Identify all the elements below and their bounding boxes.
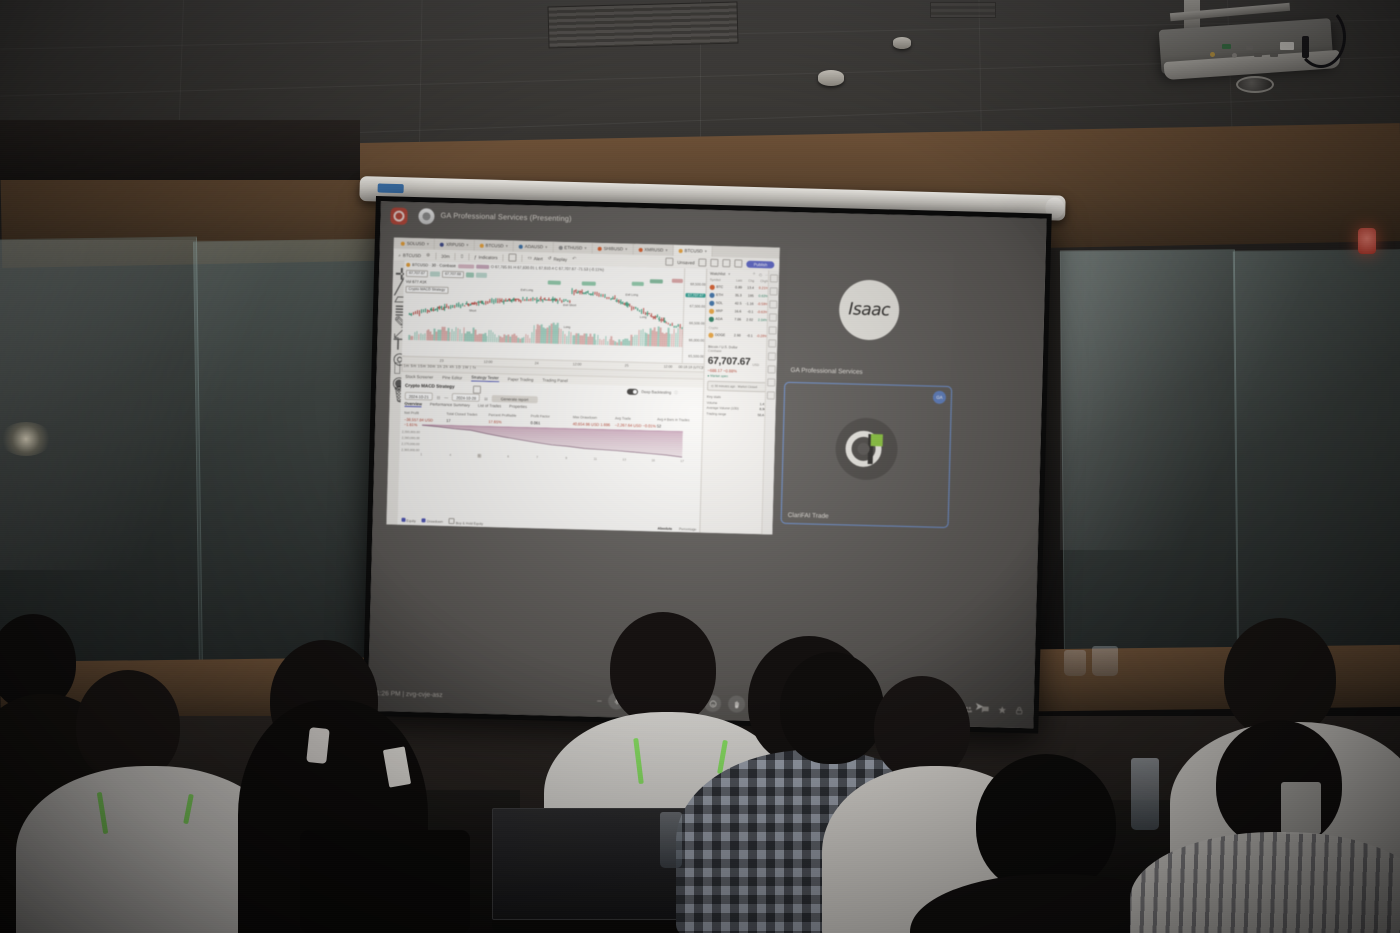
symbol-dot-icon xyxy=(401,241,405,245)
symbol-dot-icon xyxy=(519,244,523,248)
trendline-icon[interactable]: ╱ xyxy=(395,277,402,284)
watchlist-row[interactable]: ADA 7.06 2.02 2.04% xyxy=(709,317,768,323)
candle-body xyxy=(454,306,456,307)
metric-label: Net Profit xyxy=(404,411,446,416)
interval-quick-row[interactable]: 1m 5m 15m 30m 1h 2h 4h 1D 1W | fx xyxy=(404,364,477,370)
chevron-down-icon[interactable]: ▾ xyxy=(545,244,547,250)
deep-backtesting-toggle[interactable]: Deep Backtesting ⓘ xyxy=(627,389,678,396)
fib-icon[interactable]: ≣ xyxy=(394,301,401,308)
candle-body xyxy=(419,313,421,314)
subtab-overview[interactable]: Overview xyxy=(404,401,421,407)
clarifai-logo-icon xyxy=(843,426,890,473)
candles-icon: ▯ xyxy=(461,253,464,259)
water-bottle xyxy=(660,812,682,868)
col-chgpct: Chg% xyxy=(754,279,769,283)
fullscreen-icon[interactable] xyxy=(723,259,731,267)
row-last: 7.06 xyxy=(729,318,741,322)
interval-button[interactable]: 30m xyxy=(441,253,450,258)
quote-market-status: ● Market open xyxy=(707,374,768,380)
candle-body xyxy=(507,300,509,301)
publish-button[interactable]: Publish xyxy=(747,260,775,268)
magnet-icon[interactable]: ◎ xyxy=(393,348,400,355)
calendar-icon[interactable] xyxy=(769,326,777,334)
candle-body xyxy=(538,300,540,301)
ceiling-projector xyxy=(1150,0,1380,95)
signal-badge xyxy=(672,279,683,283)
equity-y-tick: 2,380,000.00 xyxy=(402,436,420,440)
chevron-down-icon[interactable]: ▾ xyxy=(665,247,667,253)
col-symbol: Symbol xyxy=(710,278,730,283)
toggle-switch[interactable] xyxy=(627,389,638,395)
symbol-search-button[interactable]: ⌕ BTCUSD xyxy=(398,252,421,258)
signal-badge xyxy=(632,282,644,286)
price-tick: 66,000.00 xyxy=(689,338,705,342)
settings-icon[interactable] xyxy=(711,259,719,267)
metric-value: 17.65% xyxy=(488,419,530,425)
text-icon[interactable]: T xyxy=(393,337,400,344)
symbol-tab-label: ETHUSD xyxy=(564,245,582,250)
symbol-tab-label: XMRUSD xyxy=(644,247,663,252)
drinking-glass xyxy=(1064,650,1086,676)
avatar: Isaac xyxy=(838,279,900,341)
trade-marker-label: Exit Long xyxy=(625,293,638,297)
equity-x-tick: 7 xyxy=(536,455,538,459)
chevron-down-icon[interactable]: ▾ xyxy=(705,248,707,254)
chair-back xyxy=(300,830,470,933)
metric-delta: −0.01% xyxy=(643,423,656,428)
subtab-properties[interactable]: Properties xyxy=(509,404,527,410)
trade-marker-label: Exit Short xyxy=(563,303,576,307)
drawdown-checkbox[interactable] xyxy=(422,518,426,522)
row-last: 35.3 xyxy=(730,294,742,298)
wall-light-reflection xyxy=(0,422,52,456)
metric-label: Max Drawdown xyxy=(573,415,615,420)
symbol-tab-label: ADAUSD xyxy=(525,244,543,249)
trade-marker-label: Short xyxy=(469,308,476,312)
candle-body xyxy=(475,303,477,304)
equity-x-tick: 16 xyxy=(651,458,655,462)
candle-body xyxy=(585,293,587,294)
row-symbol: ETH xyxy=(716,293,723,297)
record-icon[interactable] xyxy=(390,207,407,224)
deep-backtesting-label: Deep Backtesting xyxy=(641,390,671,395)
row-symbol: DOGE xyxy=(715,333,725,337)
row-chgpct: 2.04% xyxy=(753,318,768,322)
generate-report-button[interactable]: Generate report xyxy=(492,395,538,403)
subtab-performance-summary[interactable]: Performance Summary xyxy=(430,401,470,408)
news-icon[interactable] xyxy=(768,339,776,347)
equity-scale-modes: Absolute Percentage xyxy=(657,526,696,531)
lock-icon[interactable]: ⌷ xyxy=(393,360,400,367)
row-chg: 2.02 xyxy=(741,318,753,322)
market-open-dot-icon: ● xyxy=(707,374,709,378)
hotlists-icon[interactable] xyxy=(769,313,777,321)
watchlist-header: Watchlist ▾ ＋ ◴ ⋯ xyxy=(710,271,769,278)
equity-y-axis: 2,390,000.00 2,380,000.00 2,370,000.00 2… xyxy=(403,424,421,451)
key-stat-row: Average Volume (10D) 8,904 xyxy=(707,406,768,412)
metric-value: 0.061 xyxy=(530,420,572,426)
shapes-icon[interactable]: ▱ xyxy=(394,289,401,296)
watchlist-title: Watchlist xyxy=(710,271,725,275)
price-tick: 66,500.00 xyxy=(689,321,705,325)
price-tick: 65,500.00 xyxy=(688,354,704,358)
utc-timestamp: 00:18:18 (UTC) xyxy=(678,365,702,370)
settings-icon[interactable] xyxy=(767,391,775,399)
price-box-1: 67,707.67 xyxy=(406,269,428,277)
ceiling-vent xyxy=(930,2,996,18)
chevron-down-icon[interactable]: ▾ xyxy=(584,245,586,251)
alert-icon: ▭ xyxy=(528,255,532,261)
price-chart[interactable]: BTCUSD · 30 · Coinbase O 67,785.91 H 67,… xyxy=(402,261,707,364)
metric-label: Total Closed Trades xyxy=(446,412,488,417)
equity-legend: Equity Drawdown Buy & Hold Equity xyxy=(401,517,483,526)
chevron-down-icon[interactable]: ▾ xyxy=(466,242,468,248)
water-bottle xyxy=(1131,758,1159,830)
smoke-detector xyxy=(818,70,844,86)
cursor-icon[interactable]: ✛ xyxy=(395,265,402,272)
col-chg: Chg xyxy=(742,279,754,283)
equity-x-tick: 1 xyxy=(420,452,422,456)
replay-button[interactable]: ↺ Replay xyxy=(548,256,568,263)
clock-icon[interactable]: ◴ xyxy=(759,272,762,277)
chat-icon[interactable] xyxy=(767,365,775,373)
symbol-dot-icon xyxy=(709,301,714,306)
metric-label: Percent Profitable xyxy=(489,413,531,418)
key-stats-label: Key stats xyxy=(707,395,768,401)
row-last: 0.89 xyxy=(730,286,742,290)
measure-icon[interactable]: ⤢ xyxy=(393,325,400,332)
avatar xyxy=(835,418,899,482)
candle-body xyxy=(587,291,589,292)
row-symbol: SOL xyxy=(716,301,723,305)
time-tick: 12:00 xyxy=(573,362,582,366)
symbol-dot-icon xyxy=(679,248,683,252)
watchlist-panel: Watchlist ▾ ＋ ◴ ⋯ Symbol Last Chg Chg% xyxy=(699,269,779,535)
audience-member xyxy=(1160,720,1400,933)
equity-chart[interactable]: 2,390,000.00 2,380,000.00 2,370,000.00 2… xyxy=(403,424,699,466)
watchlist-section-label: Crypto xyxy=(709,326,718,330)
roller-brand-tab xyxy=(378,183,404,193)
metric-value: 40,654.96 USD xyxy=(573,421,600,427)
quote-currency: USD xyxy=(752,362,759,368)
row-chgpct: 0.21% xyxy=(754,286,769,290)
toolbar-symbol-label: BTCUSD xyxy=(403,252,421,257)
eye-icon[interactable]: ◉ xyxy=(392,372,399,379)
watchlist-icon[interactable] xyxy=(770,274,778,282)
calendar-icon[interactable]: ▤ xyxy=(437,394,441,399)
participant-badge: GA xyxy=(933,391,946,404)
tab-paper-trading[interactable]: Paper Trading xyxy=(508,377,534,383)
metric-label: Avg # Bars in Trades xyxy=(657,417,699,422)
symbol-dot-icon xyxy=(558,245,562,249)
alerts-icon[interactable] xyxy=(770,287,778,295)
row-last: 16.6 xyxy=(729,310,741,314)
row-chg: 13.4 xyxy=(742,286,754,290)
add-symbol-icon[interactable]: ⊕ xyxy=(426,252,430,258)
watchlist-row[interactable]: SOL 42.5 -1.16 -0.59% xyxy=(709,301,768,307)
row-symbol: ADA xyxy=(715,317,722,321)
candle-body xyxy=(436,309,438,310)
candle-body xyxy=(450,307,452,308)
unsaved-icon xyxy=(665,258,673,266)
layout-icon[interactable] xyxy=(509,253,517,261)
equity-y-tick: 2,360,000.00 xyxy=(401,448,419,452)
equity-checkbox[interactable] xyxy=(401,518,405,522)
participant-tile-presenter[interactable]: Isaac GA Professional Services xyxy=(784,248,953,382)
trash-icon[interactable]: 🗑 xyxy=(392,384,399,391)
symbol-dot-icon xyxy=(709,293,714,298)
avatar-label: Isaac xyxy=(848,299,890,320)
tab-trading-panel[interactable]: Trading Panel xyxy=(542,377,567,383)
equity-x-tick: 5 xyxy=(477,454,481,458)
tradingview-window: SOLUSD ▾ XRPUSD ▾ BTCUSD ▾ ADAUS xyxy=(386,237,779,534)
lanyard-badge xyxy=(1281,782,1321,834)
symbol-dot-icon xyxy=(598,246,602,250)
indicators-icon: ƒ xyxy=(474,254,477,259)
stat-label: Trading range xyxy=(706,412,726,417)
price-box-2: 67,707.68 xyxy=(442,270,464,278)
stat-label: Volume xyxy=(707,400,718,404)
equity-x-tick: 9 xyxy=(565,456,567,460)
tab-stock-screener[interactable]: Stock Screener xyxy=(405,374,433,380)
symbol-dot-icon xyxy=(709,317,714,322)
candle-body xyxy=(629,305,631,306)
buyhold-checkbox[interactable] xyxy=(449,518,455,524)
calendar-icon[interactable]: ▤ xyxy=(484,395,488,400)
price-tick: 68,500.00 xyxy=(690,282,706,286)
time-tick: 12:00 xyxy=(484,360,493,364)
watchlist-row[interactable]: ETH 35.3 195 0.63% xyxy=(709,293,768,299)
time-tick: 24 xyxy=(535,361,539,365)
signal-badge xyxy=(650,279,663,283)
replay-icon: ↺ xyxy=(548,256,552,262)
symbol-tab-label: SHIBUSD xyxy=(604,246,624,252)
row-chgpct: 0.63% xyxy=(754,294,769,298)
row-chg: -0.1 xyxy=(741,310,753,314)
equity-x-tick: 13 xyxy=(622,458,626,462)
col-last: Last xyxy=(730,278,742,282)
smoke-detector xyxy=(893,37,911,49)
row-chgpct: -0.28% xyxy=(753,334,768,338)
row-last: 2.90 xyxy=(729,334,741,338)
presenter-avatar xyxy=(418,208,434,224)
alert-label: Alert xyxy=(534,256,543,261)
row-symbol: XRP xyxy=(716,309,723,313)
candle-body xyxy=(569,301,571,303)
symbol-tab-label: XRPUSD xyxy=(446,242,464,247)
price-tick: 67,500.00 xyxy=(690,304,706,308)
undo-icon[interactable]: ↶ xyxy=(572,256,576,262)
current-price-tag: 67,707.67 xyxy=(686,293,706,298)
key-stat-row: Trading range 50,449 xyxy=(706,412,767,418)
row-chg: -1.16 xyxy=(742,302,754,306)
watchlist-row[interactable]: BTC 0.89 13.4 0.21% xyxy=(710,285,769,291)
unsaved-label: Unsaved xyxy=(677,259,694,264)
candle-body xyxy=(442,308,444,309)
metric-delta: 1.696 xyxy=(600,421,610,426)
participant-tile-clarifai[interactable]: GA ClariFAI Trade xyxy=(781,382,953,528)
time-tick: 25 xyxy=(625,364,629,368)
symbol-quote-card: Bitcoin / U.S. Dollar Coinbase 67,707.67… xyxy=(706,345,769,417)
quote-time-selector[interactable]: ◴ 30 minutes ago · Market Closed xyxy=(707,381,768,393)
symbol-dot-icon xyxy=(708,333,713,338)
strategy-tester-panel: Crypto MACD Strategy Deep Backtesting ⓘ … xyxy=(397,380,704,533)
chevron-down-icon[interactable]: ▾ xyxy=(427,241,429,247)
projector-lens xyxy=(1236,76,1274,93)
candle-body xyxy=(460,306,462,307)
signal-badge xyxy=(548,281,561,285)
candle-body xyxy=(542,300,544,301)
date-from-input[interactable]: 2024-10-21 xyxy=(405,392,433,401)
quote-price: 67,707.67 xyxy=(708,356,751,368)
notes-icon[interactable] xyxy=(767,378,775,386)
strategy-title: Crypto MACD Strategy xyxy=(405,383,455,389)
info-icon[interactable]: ⓘ xyxy=(674,390,678,395)
symbol-dot-icon xyxy=(709,309,714,314)
trade-marker-label: Exit Long xyxy=(521,288,534,292)
date-range-dash: — xyxy=(444,394,448,399)
symbol-tab-label: BTCUSD xyxy=(485,243,503,248)
trade-marker-label: Long xyxy=(564,325,571,329)
candle-body xyxy=(464,305,466,306)
signal-badge xyxy=(582,281,596,285)
stat-label: Average Volume (10D) xyxy=(707,406,739,411)
layouts-icon[interactable] xyxy=(735,259,743,267)
participant-name: GA Professional Services xyxy=(790,367,862,376)
symbol-dot-icon xyxy=(406,263,410,267)
candle-body xyxy=(614,298,616,299)
symbol-tab-label: SOLUSD xyxy=(407,241,425,246)
row-chgpct: -0.59% xyxy=(753,302,768,306)
key-stat-row: Volume 1,419 xyxy=(707,400,768,406)
quote-exchange: Coinbase xyxy=(708,349,769,355)
drinking-glass xyxy=(1092,646,1118,676)
symbol-dot-icon xyxy=(480,243,484,247)
metric-label: Profit Factor xyxy=(531,414,573,419)
indicators-label: Indicators xyxy=(479,254,498,259)
metric-value: 17 xyxy=(446,417,488,423)
chevron-down-icon[interactable]: ▾ xyxy=(625,246,627,252)
replay-label: Replay xyxy=(553,256,567,261)
conference-room-photo: GA Professional Services (Presenting) SO… xyxy=(0,0,1400,933)
wall-upper-dark xyxy=(0,120,360,180)
metric-value: 52 xyxy=(657,423,699,429)
participant-name: ClariFAI Trade xyxy=(788,512,829,520)
chevron-down-icon[interactable]: ▾ xyxy=(506,243,508,249)
time-tick: 12:00 xyxy=(664,365,673,369)
date-to-input[interactable]: 2024-10-28 xyxy=(452,393,480,402)
symbol-dot-icon xyxy=(440,242,444,246)
subtab-list-of-trades[interactable]: List of Trades xyxy=(478,403,502,410)
equity-x-tick: 6 xyxy=(507,455,509,459)
equity-x-tick: 4 xyxy=(449,453,451,457)
row-chgpct: -0.63% xyxy=(753,310,768,314)
legend-buy-hold: Buy & Hold Equity xyxy=(456,521,483,526)
indicators-button[interactable]: ƒ Indicators xyxy=(474,254,498,260)
search-icon: ⌕ xyxy=(398,252,401,257)
row-chg: -0.1 xyxy=(741,334,753,338)
equity-x-tick: 17 xyxy=(680,459,684,463)
brush-icon[interactable]: ✎ xyxy=(394,313,401,320)
equity-x-tick: 11 xyxy=(594,457,597,461)
row-symbol: BTC xyxy=(716,285,723,289)
emergency-light xyxy=(1358,228,1376,254)
row-chg: 195 xyxy=(742,294,754,298)
candle-body xyxy=(557,301,559,302)
metric-label: Avg Trade xyxy=(615,416,657,421)
chart-type-button[interactable]: ▯ xyxy=(461,253,464,259)
data-window-icon[interactable] xyxy=(769,300,777,308)
tab-pine-editor[interactable]: Pine Editor xyxy=(442,375,462,381)
chevron-down-icon[interactable]: ▾ xyxy=(728,271,730,276)
volume-series xyxy=(406,323,703,348)
presenting-label: GA Professional Services (Presenting) xyxy=(440,211,571,223)
hair-clip xyxy=(306,727,330,764)
symbol-dot-icon xyxy=(710,285,715,290)
scale-percentage[interactable]: Percentage xyxy=(679,527,696,531)
watchlist-row[interactable]: DOGE 2.90 -0.1 -0.28% xyxy=(708,333,767,339)
symbol-dot-icon xyxy=(638,247,642,251)
alert-button[interactable]: ▭ Alert xyxy=(528,255,543,261)
candle-body xyxy=(428,310,430,311)
scale-absolute[interactable]: Absolute xyxy=(657,526,672,530)
equity-y-tick: 2,390,000.00 xyxy=(402,430,420,434)
add-icon[interactable]: ＋ xyxy=(752,272,756,277)
legend-symbol: BTCUSD · 30 · Coinbase xyxy=(412,262,456,269)
row-last: 42.5 xyxy=(730,302,742,306)
time-tick: 23 xyxy=(440,359,444,363)
metric-value: −2,267.64 USD xyxy=(615,422,642,428)
watchlist-columns: Symbol Last Chg Chg% xyxy=(710,278,769,284)
equity-y-tick: 2,370,000.00 xyxy=(401,442,419,446)
ceiling-vent xyxy=(547,2,738,49)
candle-body xyxy=(573,292,575,293)
ideas-icon[interactable] xyxy=(768,352,776,360)
legend-drawdown: Drawdown xyxy=(427,519,443,523)
strategy-settings-icon[interactable] xyxy=(473,386,481,394)
snapshot-icon[interactable] xyxy=(699,258,707,266)
watchlist-row[interactable]: XRP 16.6 -0.1 -0.63% xyxy=(709,309,768,315)
symbol-tab-label: BTCUSD xyxy=(685,248,703,253)
trade-marker-label: Long xyxy=(640,315,647,319)
legend-equity: Equity xyxy=(406,519,416,523)
